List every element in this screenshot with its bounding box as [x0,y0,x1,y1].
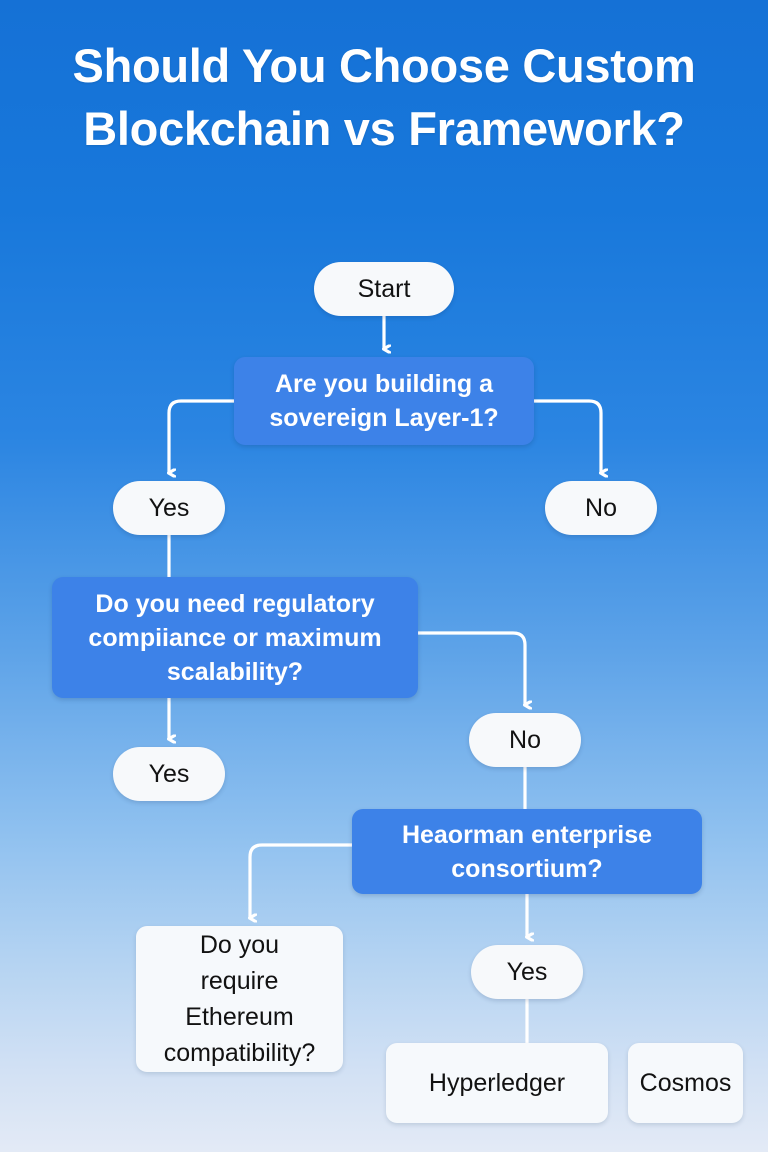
node-outcome-hyperledger[interactable]: Hyperledger [386,1043,608,1123]
node-question-sovereign-layer1[interactable]: Are you building a sovereign Layer-1? [234,357,534,445]
node-question-enterprise-consortium-label: Heaorman enterprise consortium? [402,818,652,886]
node-question-sovereign-layer1-label: Are you building a sovereign Layer-1? [269,367,498,435]
q3-line-1: Heaorman enterprise [402,821,652,849]
node-no-sovereign-label: No [585,494,617,523]
node-no-regulatory[interactable]: No [469,713,581,767]
flowchart-canvas: Should You Choose Custom Blockchain vs F… [0,0,768,1152]
node-outcome-hyperledger-label: Hyperledger [429,1065,565,1102]
node-no-sovereign[interactable]: No [545,481,657,535]
node-outcome-cosmos[interactable]: Cosmos [628,1043,743,1123]
node-start[interactable]: Start [314,262,454,316]
node-question-regulatory-compliance-label: Do you need regulatory compiiance or max… [88,587,381,689]
node-question-ethereum-compatibility[interactable]: Do you require Ethereum compatibility? [136,926,343,1072]
node-yes-consortium-label: Yes [507,958,548,987]
node-yes-sovereign-label: Yes [149,494,190,523]
node-no-regulatory-label: No [509,726,541,755]
node-yes-sovereign[interactable]: Yes [113,481,225,535]
node-start-label: Start [358,275,411,304]
page-title: Should You Choose Custom Blockchain vs F… [0,34,768,160]
ethereum-line-2: require [201,967,279,995]
edge-q2-to-no2 [418,633,525,705]
edge-q1-to-yes1 [169,401,234,473]
node-yes-consortium[interactable]: Yes [471,945,583,999]
q1-line-1: Are you building a [275,370,493,398]
q2-line-2: compiiance or maximum [88,624,381,652]
node-question-enterprise-consortium[interactable]: Heaorman enterprise consortium? [352,809,702,894]
edge-q1-to-no1 [534,401,601,473]
ethereum-line-4: compatibility? [164,1039,315,1067]
q2-line-3: scalability? [167,658,303,686]
node-yes-regulatory-label: Yes [149,760,190,789]
connector-layer [0,0,768,1152]
node-yes-regulatory[interactable]: Yes [113,747,225,801]
edge-q3-to-ethereum [250,845,352,918]
node-question-regulatory-compliance[interactable]: Do you need regulatory compiiance or max… [52,577,418,698]
q3-line-2: consortium? [451,855,602,883]
q2-line-1: Do you need regulatory [95,590,374,618]
q1-line-2: sovereign Layer-1? [269,404,498,432]
ethereum-line-3: Ethereum [185,1003,293,1031]
ethereum-line-1: Do you [200,931,279,959]
node-question-ethereum-compatibility-label: Do you require Ethereum compatibility? [164,927,315,1071]
node-outcome-cosmos-label: Cosmos [640,1065,732,1102]
